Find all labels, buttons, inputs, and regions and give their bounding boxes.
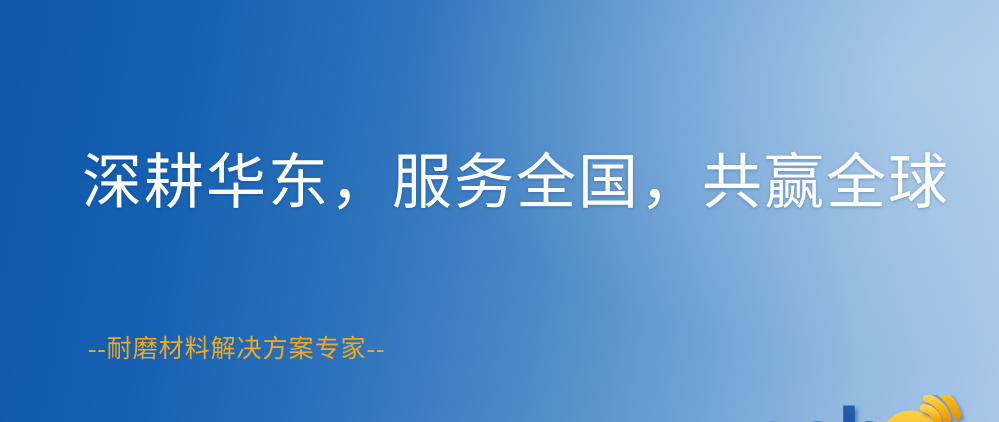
echo-machinery-logo: ech Machinery ®	[748, 395, 999, 422]
banner-subtitle: --耐磨材料解决方案专家--	[88, 329, 999, 365]
promotional-banner: 深耕华东，服务全国，共赢全球 --耐磨材料解决方案专家--	[0, 0, 999, 422]
logo-wordmark-blue: ech	[748, 395, 887, 422]
logo-artwork: ech Machinery ®	[748, 395, 999, 422]
banner-headline: 深耕华东，服务全国，共赢全球	[82, 152, 999, 215]
